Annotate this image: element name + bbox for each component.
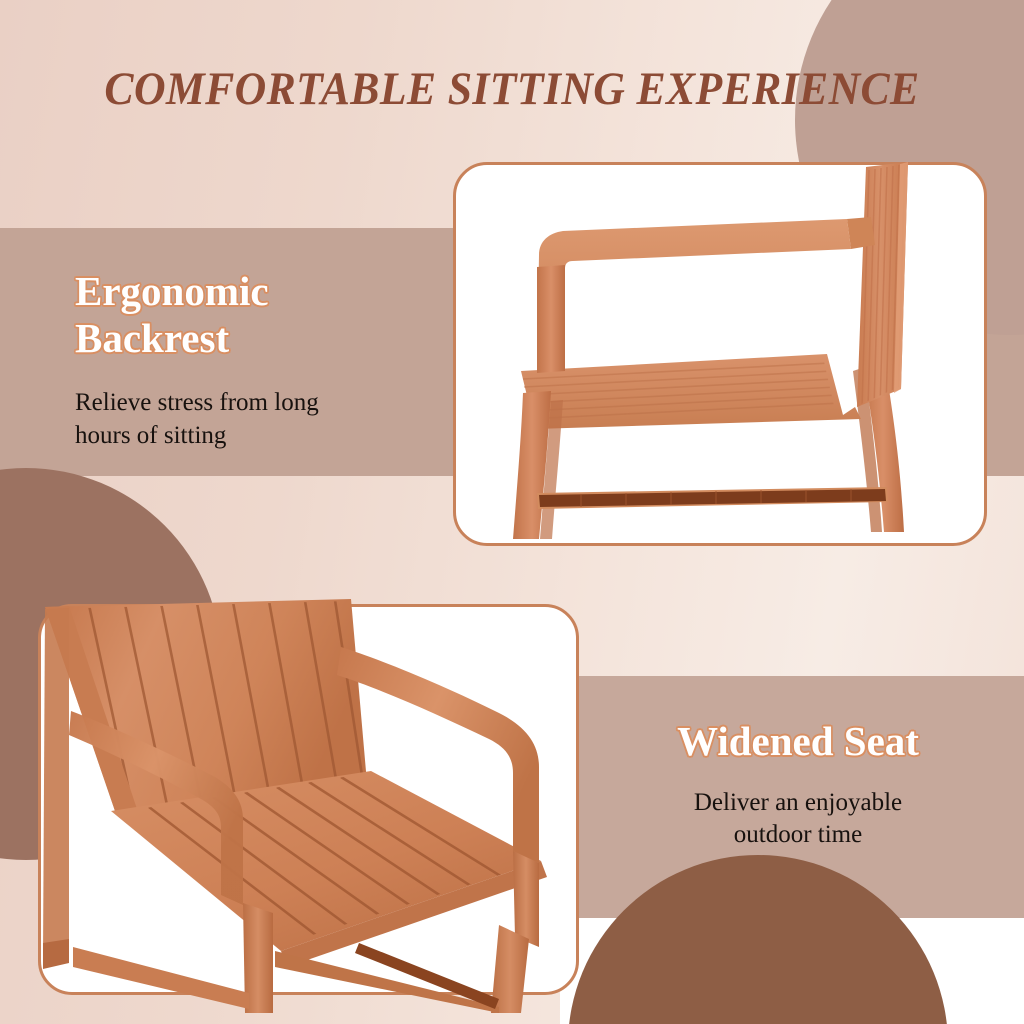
chair-side-view-image [451,157,991,552]
chair-front-view-image [29,595,599,1015]
feature-description-line-2: hours of sitting [75,420,405,453]
feature-block-ergonomic-backrest: Ergonomic Backrest Relieve stress from l… [75,268,405,452]
feature-description-widened-seat: Deliver an enjoyable outdoor time [628,787,968,852]
product-photo-clip-side-view [456,165,984,543]
feature-heading-ergonomic-backrest: Ergonomic Backrest [75,268,405,361]
product-feature-poster: COMFORTABLE SITTING EXPERIENCE Ergonomic… [0,0,1024,1024]
product-photo-card-front-view [38,604,579,995]
page-title: COMFORTABLE SITTING EXPERIENCE [36,62,988,116]
product-photo-card-side-view [453,162,987,546]
feature-block-widened-seat: Widened Seat Deliver an enjoyable outdoo… [628,718,968,852]
feature-heading-line-1: Widened Seat [628,718,968,765]
feature-description-line-2: outdoor time [628,819,968,852]
feature-heading-line-1: Ergonomic [75,268,405,315]
feature-heading-widened-seat: Widened Seat [628,718,968,765]
feature-heading-line-2: Backrest [75,315,405,362]
feature-description-ergonomic-backrest: Relieve stress from long hours of sittin… [75,387,405,452]
feature-description-line-1: Deliver an enjoyable [628,787,968,820]
product-photo-clip-front-view [41,607,576,992]
feature-description-line-1: Relieve stress from long [75,387,405,420]
